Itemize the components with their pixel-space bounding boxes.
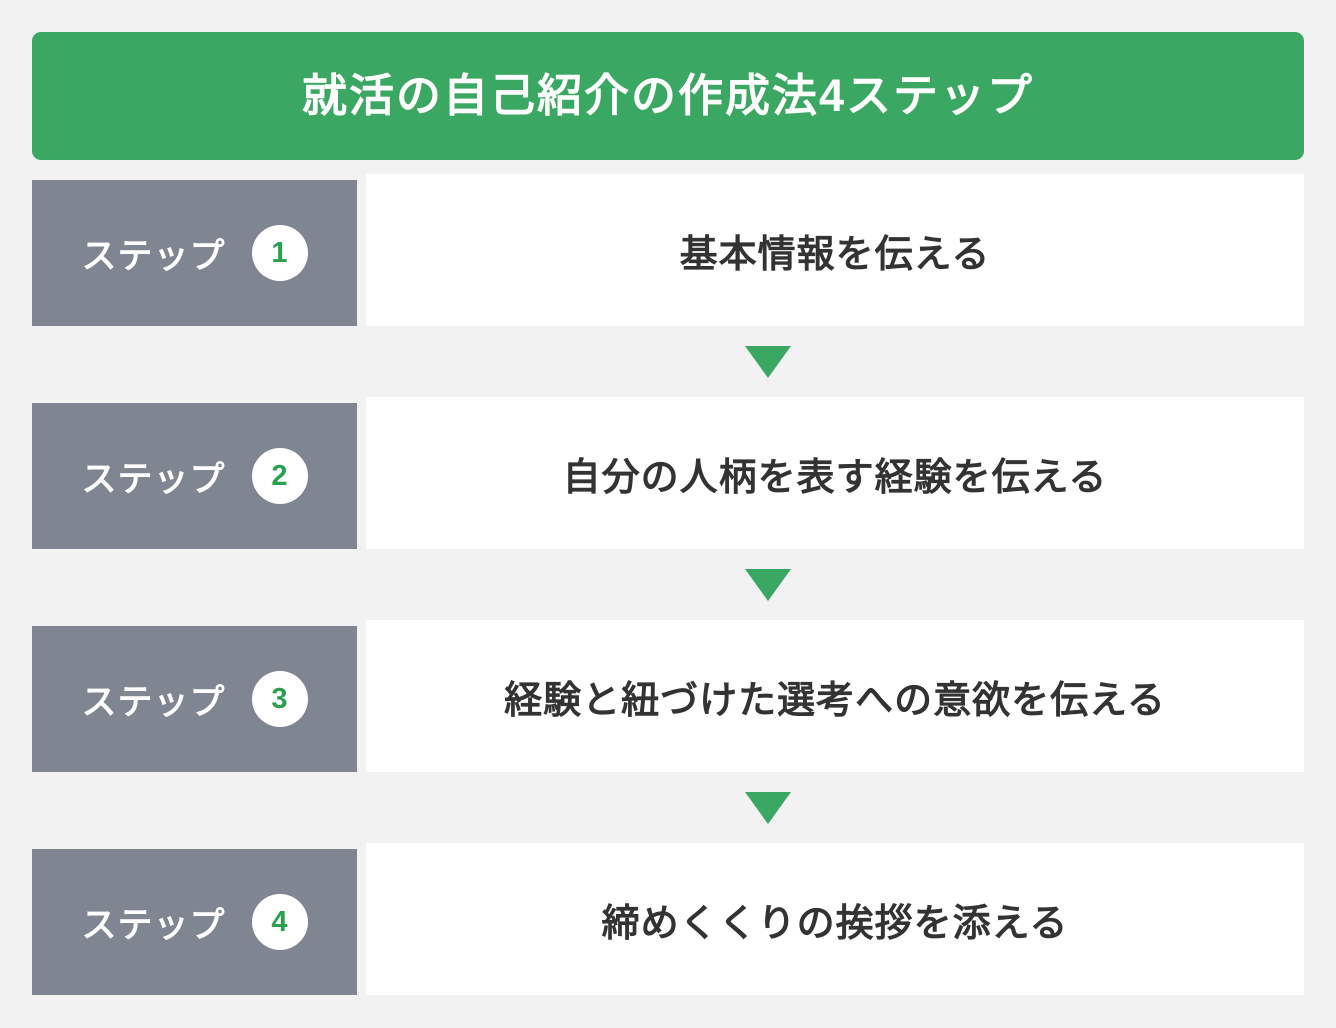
- step-badge-number: 4: [271, 908, 287, 937]
- step-label-text: ステップ: [81, 228, 225, 279]
- step-label-text: ステップ: [81, 451, 225, 502]
- step-label-text: ステップ: [81, 674, 225, 725]
- step-content-text: 経験と紐づけた選考への意欲を伝える: [504, 669, 1166, 724]
- step-connector-1: [32, 326, 1304, 397]
- step-content-4: 締めくくりの挨拶を添える: [366, 843, 1304, 995]
- step-connector-3: [32, 772, 1304, 843]
- step-badge-4: 4: [252, 894, 308, 950]
- step-content-text: 締めくくりの挨拶を添える: [602, 892, 1069, 947]
- steps-list: ステップ 1 基本情報を伝える ステップ 2 自分の人柄を表す経験を伝える: [32, 174, 1304, 995]
- step-badge-number: 2: [271, 462, 287, 491]
- step-content-1: 基本情報を伝える: [366, 174, 1304, 326]
- step-content-text: 基本情報を伝える: [680, 223, 991, 278]
- step-label-1: ステップ 1: [32, 180, 357, 326]
- step-content-text: 自分の人柄を表す経験を伝える: [563, 446, 1108, 501]
- step-row: ステップ 3 経験と紐づけた選考への意欲を伝える: [32, 620, 1304, 772]
- page-title: 就活の自己紹介の作成法4ステップ: [302, 71, 1034, 121]
- step-row: ステップ 1 基本情報を伝える: [32, 174, 1304, 326]
- step-badge-1: 1: [252, 225, 308, 281]
- step-label-2: ステップ 2: [32, 403, 357, 549]
- triangle-down-icon: [745, 346, 791, 378]
- step-label-text: ステップ: [81, 897, 225, 948]
- step-badge-3: 3: [252, 671, 308, 727]
- title-banner: 就活の自己紹介の作成法4ステップ: [32, 32, 1304, 160]
- step-badge-number: 3: [271, 685, 287, 714]
- step-label-4: ステップ 4: [32, 849, 357, 995]
- step-content-3: 経験と紐づけた選考への意欲を伝える: [366, 620, 1304, 772]
- step-label-3: ステップ 3: [32, 626, 357, 772]
- step-content-2: 自分の人柄を表す経験を伝える: [366, 397, 1304, 549]
- triangle-down-icon: [745, 792, 791, 824]
- step-row: ステップ 4 締めくくりの挨拶を添える: [32, 843, 1304, 995]
- step-badge-2: 2: [252, 448, 308, 504]
- triangle-down-icon: [745, 569, 791, 601]
- step-row: ステップ 2 自分の人柄を表す経験を伝える: [32, 397, 1304, 549]
- step-infographic: 就活の自己紹介の作成法4ステップ ステップ 1 基本情報を伝える ステップ 2: [0, 0, 1336, 1028]
- step-connector-2: [32, 549, 1304, 620]
- step-badge-number: 1: [271, 239, 287, 268]
